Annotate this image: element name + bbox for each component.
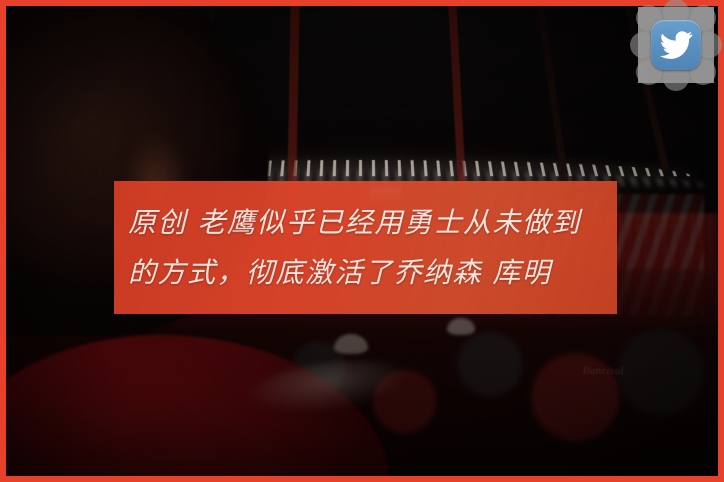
twitter-bird-icon — [659, 31, 693, 59]
shirt-sponsor-text-right: Banrisul — [583, 365, 624, 377]
twitter-icon-tile[interactable] — [651, 20, 701, 70]
stadium-photo: Banrisul Banrisul 原创 老鹰似乎已经用勇士从未做到 的方式，彻… — [6, 6, 718, 476]
caption-banner: 原创 老鹰似乎已经用勇士从未做到 的方式，彻底激活了乔纳森 库明 — [114, 181, 617, 314]
screenshot-root: Banrisul Banrisul 原创 老鹰似乎已经用勇士从未做到 的方式，彻… — [0, 0, 724, 482]
caption-line-1: 原创 老鹰似乎已经用勇士从未做到 — [128, 198, 603, 248]
twitter-share-badge[interactable] — [638, 7, 714, 83]
caption-line-2: 的方式，彻底激活了乔纳森 库明 — [128, 248, 603, 298]
crowd-cap-light-2 — [334, 334, 368, 354]
